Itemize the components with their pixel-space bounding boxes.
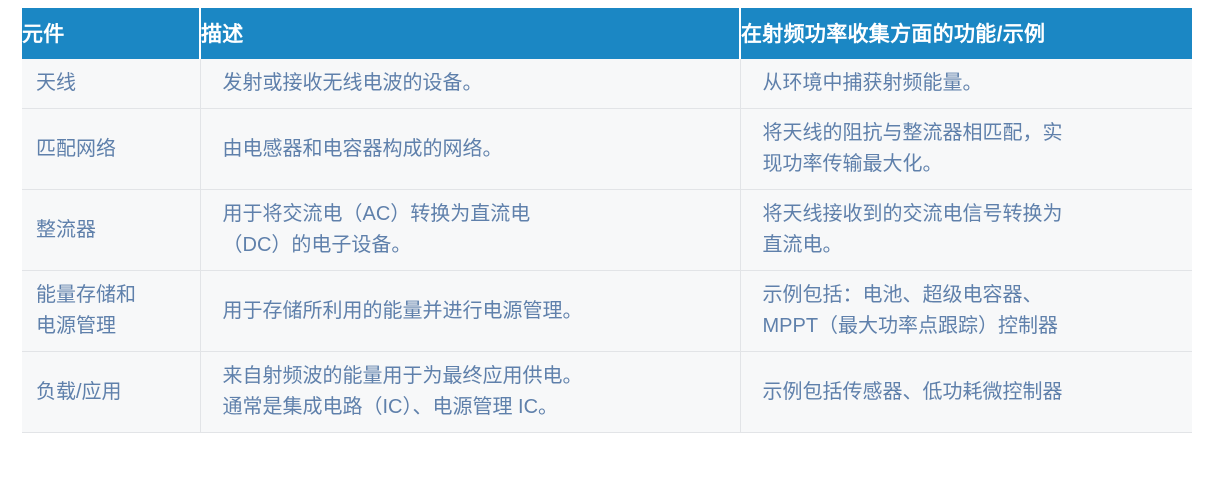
cell-component: 匹配网络 — [22, 109, 200, 190]
rf-energy-harvesting-table-container: 元件 描述 在射频功率收集方面的功能/示例 天线 发射或接收无线电波的设备。 从… — [0, 0, 1214, 494]
cell-line: 将天线接收到的交流电信号转换为 — [763, 199, 1183, 230]
rf-energy-harvesting-table: 元件 描述 在射频功率收集方面的功能/示例 天线 发射或接收无线电波的设备。 从… — [22, 8, 1192, 433]
column-header-function: 在射频功率收集方面的功能/示例 — [740, 8, 1192, 59]
cell-description: 来自射频波的能量用于为最终应用供电。 通常是集成电路（IC）、电源管理 IC。 — [200, 352, 740, 433]
cell-line: 示例包括：电池、超级电容器、 — [763, 280, 1183, 311]
cell-line: 用于存储所利用的能量并进行电源管理。 — [223, 296, 730, 327]
cell-function: 将天线接收到的交流电信号转换为 直流电。 — [740, 190, 1192, 271]
cell-line: 负载/应用 — [36, 377, 192, 408]
cell-component: 天线 — [22, 59, 200, 109]
cell-line: 天线 — [36, 68, 192, 99]
cell-line: 能量存储和 — [36, 280, 192, 311]
cell-line: 示例包括传感器、低功耗微控制器 — [763, 377, 1183, 408]
cell-component: 负载/应用 — [22, 352, 200, 433]
table-header: 元件 描述 在射频功率收集方面的功能/示例 — [22, 8, 1192, 59]
cell-description: 由电感器和电容器构成的网络。 — [200, 109, 740, 190]
cell-line: MPPT（最大功率点跟踪）控制器 — [763, 311, 1183, 342]
cell-line: 电源管理 — [36, 311, 192, 342]
column-header-description: 描述 — [200, 8, 740, 59]
cell-line: 直流电。 — [763, 230, 1183, 261]
table-row: 整流器 用于将交流电（AC）转换为直流电 （DC）的电子设备。 将天线接收到的交… — [22, 190, 1192, 271]
table-row: 能量存储和 电源管理 用于存储所利用的能量并进行电源管理。 示例包括：电池、超级… — [22, 271, 1192, 352]
column-header-component: 元件 — [22, 8, 200, 59]
cell-line: 用于将交流电（AC）转换为直流电 — [223, 199, 730, 230]
table-header-row: 元件 描述 在射频功率收集方面的功能/示例 — [22, 8, 1192, 59]
table-row: 天线 发射或接收无线电波的设备。 从环境中捕获射频能量。 — [22, 59, 1192, 109]
cell-function: 从环境中捕获射频能量。 — [740, 59, 1192, 109]
table-row: 匹配网络 由电感器和电容器构成的网络。 将天线的阻抗与整流器相匹配，实 现功率传… — [22, 109, 1192, 190]
cell-line: （DC）的电子设备。 — [223, 230, 730, 261]
cell-description: 发射或接收无线电波的设备。 — [200, 59, 740, 109]
table-body: 天线 发射或接收无线电波的设备。 从环境中捕获射频能量。 匹配网络 由电感器和电… — [22, 59, 1192, 433]
cell-line: 由电感器和电容器构成的网络。 — [223, 134, 730, 165]
cell-function: 将天线的阻抗与整流器相匹配，实 现功率传输最大化。 — [740, 109, 1192, 190]
cell-description: 用于将交流电（AC）转换为直流电 （DC）的电子设备。 — [200, 190, 740, 271]
cell-component: 整流器 — [22, 190, 200, 271]
cell-line: 现功率传输最大化。 — [763, 149, 1183, 180]
cell-line: 发射或接收无线电波的设备。 — [223, 68, 730, 99]
cell-line: 将天线的阻抗与整流器相匹配，实 — [763, 118, 1183, 149]
cell-line: 匹配网络 — [36, 134, 192, 165]
cell-function: 示例包括传感器、低功耗微控制器 — [740, 352, 1192, 433]
cell-component: 能量存储和 电源管理 — [22, 271, 200, 352]
cell-line: 通常是集成电路（IC）、电源管理 IC。 — [223, 392, 730, 423]
table-row: 负载/应用 来自射频波的能量用于为最终应用供电。 通常是集成电路（IC）、电源管… — [22, 352, 1192, 433]
cell-function: 示例包括：电池、超级电容器、 MPPT（最大功率点跟踪）控制器 — [740, 271, 1192, 352]
cell-description: 用于存储所利用的能量并进行电源管理。 — [200, 271, 740, 352]
cell-line: 从环境中捕获射频能量。 — [763, 68, 1183, 99]
cell-line: 来自射频波的能量用于为最终应用供电。 — [223, 361, 730, 392]
cell-line: 整流器 — [36, 215, 192, 246]
